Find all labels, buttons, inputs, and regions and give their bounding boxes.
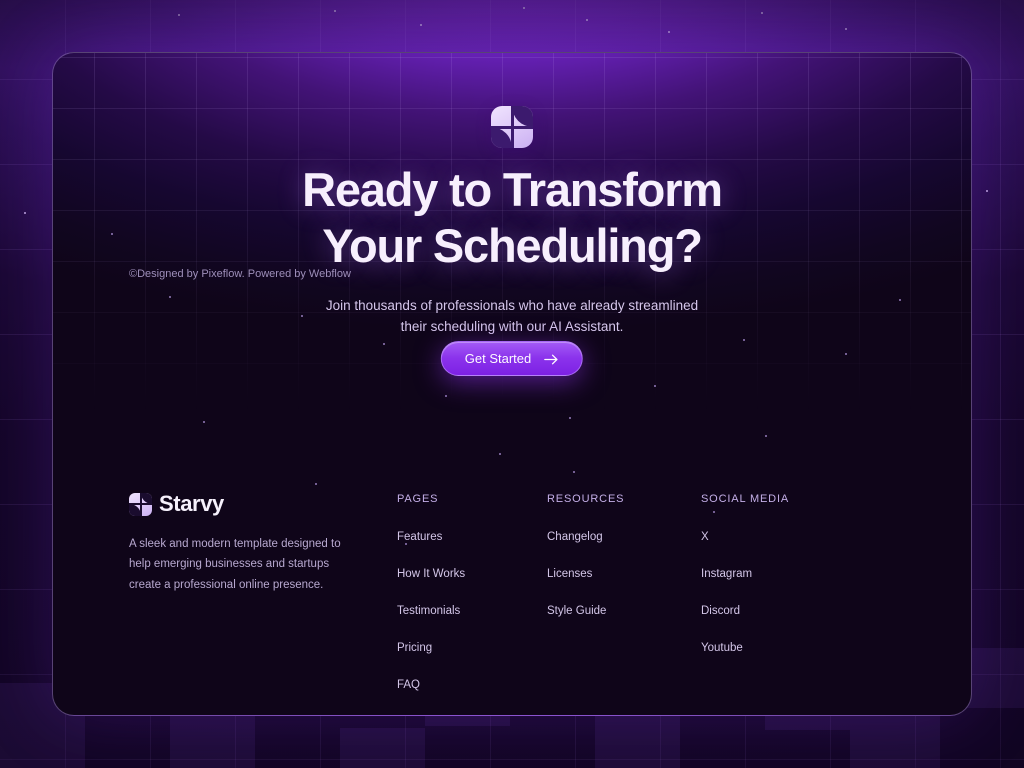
list-item: Testimonials [397,601,547,619]
footer-link-x[interactable]: X [701,531,709,543]
footer-column-heading: RESOURCES [547,491,701,505]
footer-link-discord[interactable]: Discord [701,605,740,617]
starvy-logo-icon [129,493,152,516]
list-item: How It Works [397,564,547,582]
page-backdrop: Ready to Transform Your Scheduling? Join… [0,0,1024,768]
list-item: Features [397,527,547,545]
footer-link-testimonials[interactable]: Testimonials [397,605,460,617]
footer-column-resources: RESOURCES Changelog Licenses Style Guide [547,491,701,619]
footer-column-heading: PAGES [397,491,547,505]
starvy-logo-icon [491,106,533,148]
list-item: Instagram [701,564,789,582]
footer-link-youtube[interactable]: Youtube [701,642,743,654]
list-item: Style Guide [547,601,701,619]
list-item: Discord [701,601,789,619]
cta-section: Ready to Transform Your Scheduling? Join… [53,53,971,338]
list-item: FAQ [397,675,547,693]
cta-subtitle-line-1: Join thousands of professionals who have… [326,298,698,313]
copyright-icon: © [129,268,137,280]
page-title: Ready to Transform Your Scheduling? [53,166,971,269]
footer-link-how-it-works[interactable]: How It Works [397,568,465,580]
footer-link-instagram[interactable]: Instagram [701,568,752,580]
cta-footer-card: Ready to Transform Your Scheduling? Join… [52,52,972,716]
list-item: Pricing [397,638,547,656]
footer-brand: Starvy A sleek and modern template desig… [129,491,397,595]
footer-link-faq[interactable]: FAQ [397,679,420,691]
footer-link-pricing[interactable]: Pricing [397,642,432,654]
list-item: Changelog [547,527,701,545]
footer-link-list: Changelog Licenses Style Guide [547,527,701,619]
footer-description: A sleek and modern template designed to … [129,534,361,595]
footer-column-pages: PAGES Features How It Works Testimonials… [397,491,547,693]
footer-link-list: X Instagram Discord Youtube [701,527,789,656]
footer-link-features[interactable]: Features [397,531,442,543]
cta-title-line-1: Ready to Transform [302,163,722,216]
copyright-text: Designed by Pixeflow. Powered by Webflow [137,268,351,280]
list-item: Licenses [547,564,701,582]
arrow-right-icon [544,353,559,364]
list-item: X [701,527,789,545]
list-item: Youtube [701,638,789,656]
footer-link-changelog[interactable]: Changelog [547,531,603,543]
footer-link-licenses[interactable]: Licenses [547,568,592,580]
cta-title-line-2: Your Scheduling? [53,222,971,269]
footer: Starvy A sleek and modern template desig… [53,491,971,693]
cta-subtitle-line-2: their scheduling with our AI Assistant. [401,319,624,334]
footer-link-list: Features How It Works Testimonials Prici… [397,527,547,693]
footer-column-heading: SOCIAL MEDIA [701,491,789,505]
get-started-label: Get Started [465,351,531,366]
cta-subtitle: Join thousands of professionals who have… [312,295,712,338]
footer-column-social-media: SOCIAL MEDIA X Instagram Discord Youtube [701,491,789,656]
footer-link-style-guide[interactable]: Style Guide [547,605,606,617]
footer-copyright: ©Designed by Pixeflow. Powered by Webflo… [129,268,351,280]
get-started-button[interactable]: Get Started [441,341,583,376]
footer-wordmark: Starvy [159,491,224,517]
